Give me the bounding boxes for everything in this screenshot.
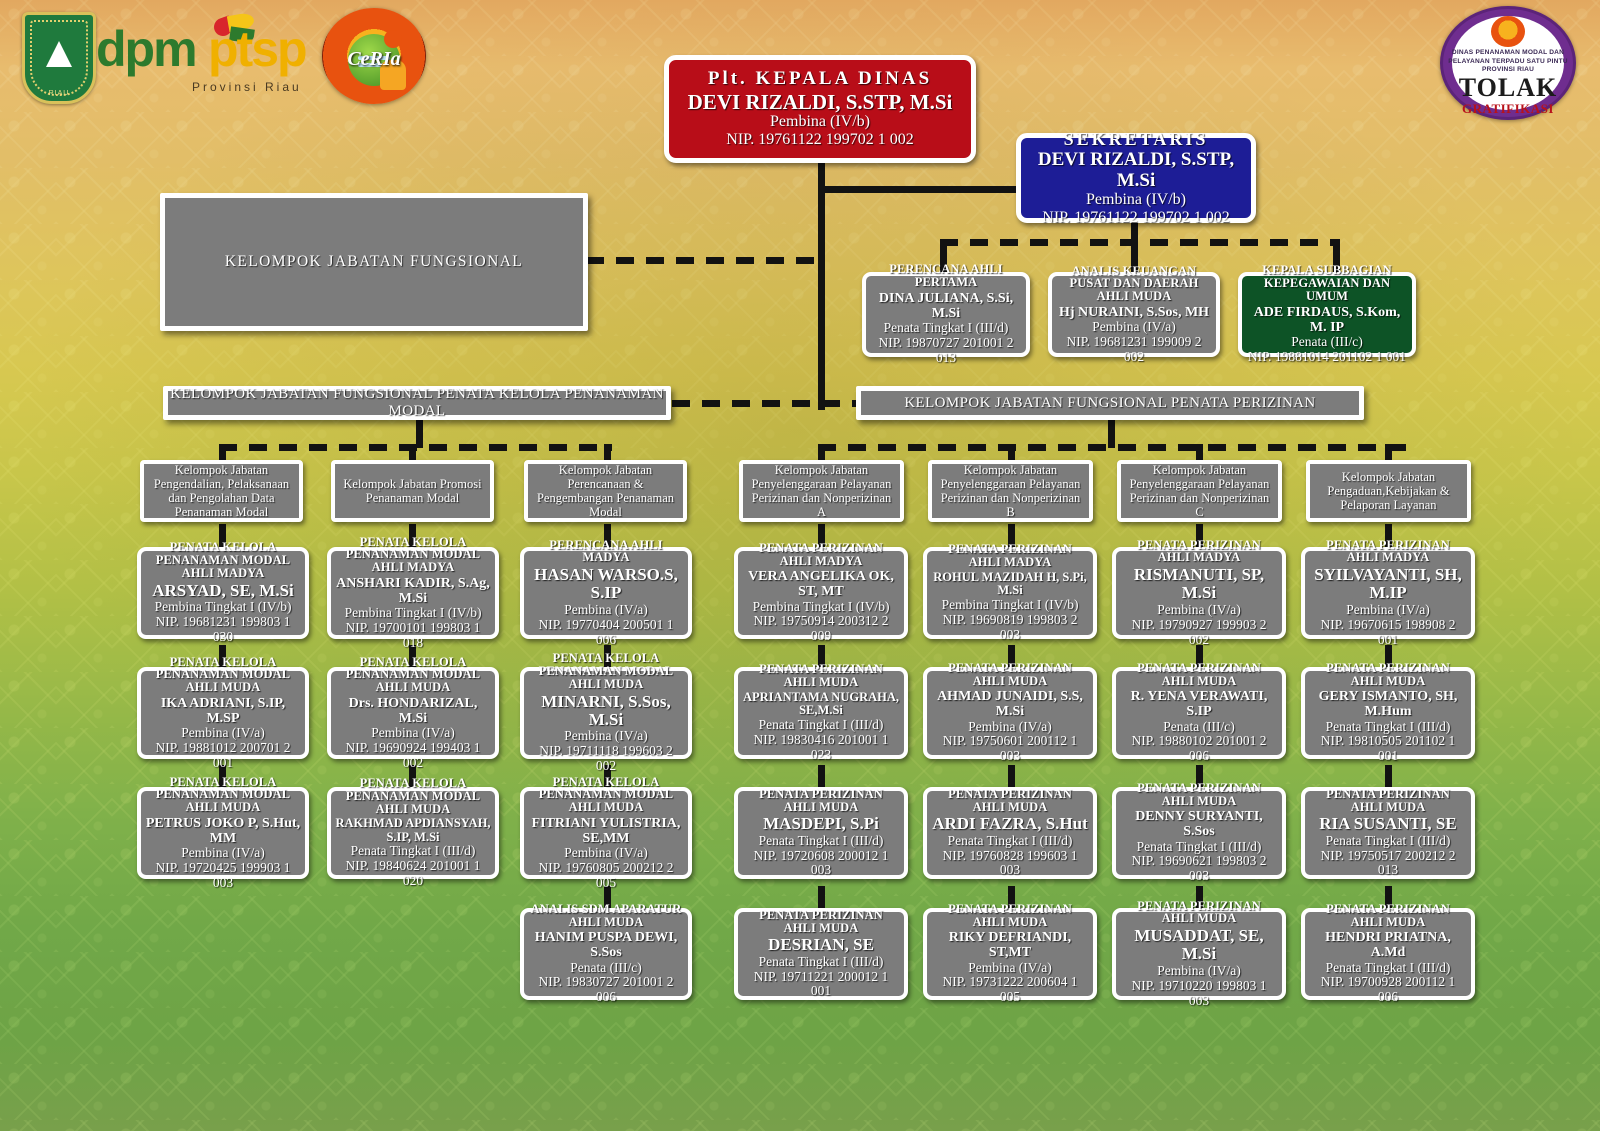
node-perencana-ahli-pertama[interactable]: PERENCANA AHLI PERTAMA DINA JULIANA, S.S… [862,272,1030,357]
connector-head-to-secretary [818,186,1018,193]
node-title: PENATA KELOLA PENANAMAN MODAL AHLI MUDA [528,776,684,814]
member-rakhmad-apdiansyah[interactable]: PENATA KELOLA PENANAMAN MODAL AHLI MUDA … [327,787,499,879]
connector-branch-bus [672,400,868,407]
stamp-main-text: TOLAK [1459,75,1557,101]
node-name: VERA ANGELIKA OK, ST, MT [742,569,900,599]
member-vera-angelika[interactable]: PENATA PERIZINAN AHLI MADYA VERA ANGELIK… [734,547,908,639]
member-hasan-warso[interactable]: PERENCANA AHLI MADYA HASAN WARSO.S, S.IP… [520,547,692,639]
node-name: ADE FIRDAUS, S.Kom, M. IP [1246,305,1408,335]
group-pengendalian-pelaksanaan[interactable]: Kelompok Jabatan Pengendalian, Pelaksana… [140,460,303,522]
node-name: HASAN WARSO.S, S.IP [528,566,684,603]
member-syilvayanti[interactable]: PENATA PERIZINAN AHLI MADYA SYILVAYANTI,… [1301,547,1475,639]
node-nip: NIP. 19690819 199803 2 003 [931,613,1089,643]
node-name: MINARNI, S.Sos, M.Si [528,693,684,730]
node-name: PETRUS JOKO P, S.Hut, MM [145,816,301,846]
node-title: PENATA KELOLA PENANAMAN MODAL AHLI MUDA [145,656,301,694]
node-rank: Pembina (IV/a) [564,846,648,861]
node-nip: NIP. 19750517 200212 2 013 [1309,849,1467,879]
stub-r4-r3 [1385,765,1392,789]
member-fitriani-yulistria[interactable]: PENATA KELOLA PENANAMAN MODAL AHLI MUDA … [520,787,692,879]
node-nip: NIP. 19770404 200501 1 006 [528,618,684,648]
group-label: Kelompok Jabatan Pengendalian, Pelaksana… [149,463,294,520]
member-denny-suryanti[interactable]: PENATA PERIZINAN AHLI MUDA DENNY SURYANT… [1112,787,1286,879]
member-gery-ismanto[interactable]: PENATA PERIZINAN AHLI MUDA GERY ISMANTO,… [1301,667,1475,759]
node-nip: NIP. 19870727 201001 2 013 [870,336,1022,366]
node-rank: Pembina Tingkat I (IV/b) [942,598,1079,613]
node-nip: NIP. 19810505 201102 1 001 [1309,734,1467,764]
group-label: Kelompok Jabatan Penyelenggaraan Pelayan… [1126,463,1273,520]
node-rank: Penata Tingkat I (III/d) [759,718,884,733]
node-rank: Pembina (IV/a) [181,726,265,741]
node-name: SYILVAYANTI, SH, M.IP [1309,566,1467,603]
node-title: PERENCANA AHLI PERTAMA [870,263,1022,289]
node-title: PENATA PERIZINAN AHLI MADYA [1309,539,1467,565]
node-rank: Penata (III/c) [570,961,642,976]
member-rismanuti[interactable]: PENATA PERIZINAN AHLI MADYA RISMANUTI, S… [1112,547,1286,639]
node-rank: Penata Tingkat I (III/d) [948,834,1073,849]
node-nip: NIP. 19790927 199903 2 002 [1120,618,1278,648]
node-nip: NIP. 19731222 200604 1 005 [931,975,1089,1005]
node-title: PENATA PERIZINAN AHLI MUDA [931,662,1089,688]
node-title: PENATA PERIZINAN AHLI MUDA [1309,662,1467,688]
node-name: APRIANTAMA NUGRAHA, SE,M.Si [742,691,900,718]
node-title: PENATA PERIZINAN AHLI MUDA [931,788,1089,814]
node-title: PENATA PERIZINAN AHLI MUDA [1120,662,1278,688]
member-ika-adriani[interactable]: PENATA KELOLA PENANAMAN MODAL AHLI MUDA … [137,667,309,759]
group-pelayanan-nonperizinan-b[interactable]: Kelompok Jabatan Penyelenggaraan Pelayan… [928,460,1093,522]
banner-label: KELOMPOK JABATAN FUNGSIONAL PENATA KELOL… [168,386,666,420]
node-nip: NIP. 19761122 199702 1 002 [1042,209,1229,227]
member-riky-defriandi[interactable]: PENATA PERIZINAN AHLI MUDA RIKY DEFRIAND… [923,908,1097,1000]
node-title: PENATA PERIZINAN AHLI MADYA [742,542,900,568]
node-title: ANALIS KEUANGAN PUSAT DAN DAERAH AHLI MU… [1056,265,1212,303]
banner-label: KELOMPOK JABATAN FUNGSIONAL PENATA PERIZ… [904,395,1315,412]
stub-r2-r3 [1008,765,1015,789]
ptsp-text: ptsp [208,24,306,74]
node-name: RIKY DEFRIANDI, ST,MT [931,930,1089,960]
node-nip: NIP. 19690621 199803 2 003 [1120,854,1278,884]
group-label: Kelompok Jabatan Penyelenggaraan Pelayan… [748,463,895,520]
group-pelayanan-nonperizinan-a[interactable]: Kelompok Jabatan Penyelenggaraan Pelayan… [739,460,904,522]
node-nip: NIP. 19700101 199803 1 018 [335,621,491,651]
node-title: PENATA KELOLA PENANAMAN MODAL AHLI MUDA [528,652,684,690]
node-name: Drs. HONDARIZAL, M.Si [335,696,491,726]
node-name: HENDRI PRIATNA, A.Md [1309,930,1467,960]
node-rank: Pembina (IV/a) [968,961,1052,976]
node-title: PENATA PERIZINAN AHLI MUDA [1120,900,1278,926]
node-name: DINA JULIANA, S.Si, M.Si [870,291,1022,321]
node-title: PENATA PERIZINAN AHLI MADYA [1120,539,1278,565]
node-rank: Penata Tingkat I (III/d) [1326,834,1451,849]
node-nip: NIP. 19840624 201001 1 020 [335,859,491,889]
node-name: Hj NURAINI, S.Sos, MH [1059,305,1209,320]
node-title: PERENCANA AHLI MADYA [528,539,684,565]
member-desrian[interactable]: PENATA PERIZINAN AHLI MUDA DESRIAN, SE P… [734,908,908,1000]
group-promosi-penanaman-modal[interactable]: Kelompok Jabatan Promosi Penanaman Modal [331,460,494,522]
node-rank: Penata Tingkat I (III/d) [759,834,884,849]
member-minarni[interactable]: PENATA KELOLA PENANAMAN MODAL AHLI MUDA … [520,667,692,759]
node-nip: NIP. 19720608 200012 1 003 [742,849,900,879]
node-name: FITRIANI YULISTRIA, SE,MM [528,816,684,846]
node-rank: Pembina (IV/a) [1092,320,1176,335]
node-rank: Penata Tingkat I (III/d) [759,955,884,970]
node-kepala-dinas[interactable]: Plt. KEPALA DINAS DEVI RIZALDI, S.STP, M… [664,55,976,163]
member-masdepi[interactable]: PENATA PERIZINAN AHLI MUDA MASDEPI, S.Pi… [734,787,908,879]
node-title: PENATA PERIZINAN AHLI MUDA [742,909,900,935]
node-nip: NIP. 19690924 199403 1 002 [335,741,491,771]
node-name: GERY ISMANTO, SH, M.Hum [1309,689,1467,719]
node-rank: Pembina (IV/a) [371,726,455,741]
connector-right-branch-bus [818,444,1418,451]
stamp-sub-text: GRATIFIKASI [1462,101,1554,117]
node-name: RAKHMAD APDIANSYAH, S.IP, M.Si [335,817,491,844]
node-name: RISMANUTI, SP, M.Si [1120,566,1278,603]
node-title: PENATA KELOLA PENANAMAN MODAL AHLI MADYA [145,541,301,579]
group-label: Kelompok Jabatan Penyelenggaraan Pelayan… [937,463,1084,520]
tolak-gratifikasi-stamp: DINAS PENANAMAN MODAL DAN PELAYANAN TERP… [1440,6,1576,120]
node-nip: NIP. 19710220 199803 1 003 [1120,979,1278,1009]
ceria-label: CeRIa [322,48,426,71]
node-rank: Pembina (IV/a) [968,720,1052,735]
node-name: ARDI FAZRA, S.Hut [932,815,1088,833]
node-rank: Pembina (IV/b) [1086,191,1186,209]
node-nip: NIP. 19711221 200012 1 001 [742,970,900,1000]
member-apriantama-nugraha[interactable]: PENATA PERIZINAN AHLI MUDA APRIANTAMA NU… [734,667,908,759]
member-yena-verawati[interactable]: PENATA PERIZINAN AHLI MUDA R. YENA VERAW… [1112,667,1286,759]
node-rank: Pembina (IV/a) [1346,603,1430,618]
member-hanim-puspa-dewi[interactable]: ANALIS SDM APARATUR AHLI MUDA HANIM PUSP… [520,908,692,1000]
node-nip: NIP. 19711118 199603 2 002 [528,744,684,774]
node-title: PENATA KELOLA PENANAMAN MODAL AHLI MADYA [335,536,491,574]
member-musaddat[interactable]: PENATA PERIZINAN AHLI MUDA MUSADDAT, SE,… [1112,908,1286,1000]
node-rank: Pembina Tingkat I (IV/b) [345,606,482,621]
node-title: PENATA KELOLA PENANAMAN MODAL AHLI MUDA [335,777,491,815]
stamp-emblem-icon [1491,16,1525,47]
node-nip: NIP. 19720425 199903 1 003 [145,861,301,891]
connector-secretariat-bus [940,239,1340,246]
node-title: PENATA KELOLA PENANAMAN MODAL AHLI MUDA [145,776,301,814]
node-name: MASDEPI, S.Pi [763,815,879,833]
node-name: DEVI RIZALDI, S.STP, M.Si [688,91,953,114]
node-nip: NIP. 19760805 200212 2 005 [528,861,684,891]
node-rank: Pembina Tingkat I (IV/b) [753,600,890,615]
node-analis-keuangan[interactable]: ANALIS KEUANGAN PUSAT DAN DAERAH AHLI MU… [1048,272,1220,357]
node-title: Plt. KEPALA DINAS [708,69,932,88]
node-nip: NIP. 19880102 201001 2 006 [1120,734,1278,764]
node-rank: Pembina Tingkat I (IV/b) [155,600,292,615]
node-name: ARSYAD, SE, M.Si [152,582,294,600]
member-anshari-kadir[interactable]: PENATA KELOLA PENANAMAN MODAL AHLI MADYA… [327,547,499,639]
node-name: DEVI RIZALDI, S.STP, M.Si [1025,150,1247,191]
node-title: PENATA PERIZINAN AHLI MADYA [931,543,1089,569]
node-nip: NIP. 19750601 200112 1 003 [931,734,1089,764]
node-rank: Penata (III/c) [1291,335,1363,350]
node-nip: NIP. 19681231 199009 2 002 [1056,335,1212,365]
node-sekretaris[interactable]: SEKRETARIS DEVI RIZALDI, S.STP, M.Si Pem… [1016,133,1256,223]
node-nip: NIP. 19760828 199603 1 003 [931,849,1089,879]
node-name: DENNY SURYANTI, S.Sos [1120,809,1278,839]
member-hondarizal[interactable]: PENATA KELOLA PENANAMAN MODAL AHLI MUDA … [327,667,499,759]
node-rank: Pembina (IV/a) [564,603,648,618]
node-title: PENATA PERIZINAN AHLI MUDA [742,663,900,689]
node-name: ANSHARI KADIR, S.Ag, M.Si [335,576,491,606]
node-nip: NIP. 19700928 200112 1 006 [1309,975,1467,1005]
group-perencanaan-pengembangan[interactable]: Kelompok Jabatan Perencanaan & Pengemban… [524,460,687,522]
node-rank: Penata Tingkat I (III/d) [351,844,476,859]
node-title: PENATA PERIZINAN AHLI MUDA [1309,903,1467,929]
node-rank: Penata Tingkat I (III/d) [1326,961,1451,976]
node-title: PENATA PERIZINAN AHLI MUDA [742,788,900,814]
node-kepala-subbagian-kepegawaian[interactable]: KEPALA SUBBAGIAN KEPEGAWAIAN DAN UMUM AD… [1238,272,1416,357]
node-rank: Pembina (IV/a) [1157,603,1241,618]
riau-provincial-crest-icon: RIAU [22,12,96,104]
dpm-text: dpm [96,24,196,74]
node-name: R. YENA VERAWATI, S.IP [1120,689,1278,719]
banner-kelompok-jabatan-fungsional[interactable]: KELOMPOK JABATAN FUNGSIONAL [160,193,588,331]
member-petrus-joko[interactable]: PENATA KELOLA PENANAMAN MODAL AHLI MUDA … [137,787,309,879]
node-name: MUSADDAT, SE, M.Si [1120,927,1278,964]
org-chart-canvas: RIAU dpm ptsp Provinsi Riau CeRIa DINAS … [0,0,1600,1131]
node-nip: NIP. 19750914 200312 2 009 [742,614,900,644]
node-rank: Pembina (IV/a) [1157,964,1241,979]
member-ahmad-junaidi[interactable]: PENATA PERIZINAN AHLI MUDA AHMAD JUNAIDI… [923,667,1097,759]
node-rank: Pembina (IV/a) [181,846,265,861]
stub-r1-r4 [818,886,825,910]
member-ria-susanti[interactable]: PENATA PERIZINAN AHLI MUDA RIA SUSANTI, … [1301,787,1475,879]
node-nip: NIP. 19830727 201001 2 006 [528,975,684,1005]
province-subtitle: Provinsi Riau [192,80,302,94]
dpmptsp-wordmark-logo: dpm ptsp Provinsi Riau [96,22,322,94]
group-label: Kelompok Jabatan Promosi Penanaman Modal [340,477,485,506]
member-rohul-mazidah[interactable]: PENATA PERIZINAN AHLI MADYA ROHUL MAZIDA… [923,547,1097,639]
node-rank: Penata Tingkat I (III/d) [1326,720,1451,735]
riau-crest-label: RIAU [25,90,93,97]
node-nip: NIP. 19881012 200701 2 001 [145,741,301,771]
node-name: DESRIAN, SE [768,936,874,954]
stamp-header-text: DINAS PENANAMAN MODAL DAN PELAYANAN TERP… [1443,49,1573,74]
node-nip: NIP. 19881014 201102 1 001 [1248,350,1406,365]
node-nip: NIP. 19681231 199803 1 030 [145,615,301,645]
node-name: IKA ADRIANI, S.IP, M.SP [145,696,301,726]
node-nip: NIP. 19670615 198908 2 001 [1309,618,1467,648]
node-title: ANALIS SDM APARATUR AHLI MUDA [528,903,684,929]
node-rank: Penata (III/c) [1163,720,1235,735]
stub-r1-r3 [818,765,825,789]
member-ardi-fazra[interactable]: PENATA PERIZINAN AHLI MUDA ARDI FAZRA, S… [923,787,1097,879]
node-name: AHMAD JUNAIDI, S.S, M.Si [931,689,1089,719]
node-rank: Pembina (IV/a) [564,729,648,744]
node-title: SEKRETARIS [1064,130,1209,148]
group-label: Kelompok Jabatan Perencanaan & Pengemban… [533,463,678,520]
banner-penata-perizinan[interactable]: KELOMPOK JABATAN FUNGSIONAL PENATA PERIZ… [856,386,1364,420]
node-rank: Penata Tingkat I (III/d) [1137,840,1262,855]
node-rank: Pembina (IV/b) [770,113,870,131]
node-name: RIA SUSANTI, SE [1319,815,1456,833]
banner-penata-kelola-penanaman-modal[interactable]: KELOMPOK JABATAN FUNGSIONAL PENATA KELOL… [163,386,671,420]
node-name: ROHUL MAZIDAH H, S.Pi, M.Si [931,571,1089,598]
node-nip: NIP. 19830416 201001 1 023 [742,733,900,763]
node-title: KEPALA SUBBAGIAN KEPEGAWAIAN DAN UMUM [1246,264,1408,302]
node-title: PENATA PERIZINAN AHLI MUDA [931,903,1089,929]
banner-label: KELOMPOK JABATAN FUNGSIONAL [225,253,523,271]
node-name: HANIM PUSPA DEWI, S.Sos [528,930,684,960]
node-title: PENATA PERIZINAN AHLI MUDA [1309,788,1467,814]
group-label: Kelompok Jabatan Pengaduan,Kebijakan & P… [1315,470,1462,513]
node-nip: NIP. 19761122 199702 1 002 [726,131,913,149]
node-title: PENATA KELOLA PENANAMAN MODAL AHLI MUDA [335,656,491,694]
connector-functional-group-dashed [586,257,822,264]
node-rank: Penata Tingkat I (III/d) [884,321,1009,336]
group-pelayanan-nonperizinan-c[interactable]: Kelompok Jabatan Penyelenggaraan Pelayan… [1117,460,1282,522]
member-arsyad[interactable]: PENATA KELOLA PENANAMAN MODAL AHLI MADYA… [137,547,309,639]
group-pengaduan-kebijakan-pelaporan[interactable]: Kelompok Jabatan Pengaduan,Kebijakan & P… [1306,460,1471,522]
member-hendri-priatna[interactable]: PENATA PERIZINAN AHLI MUDA HENDRI PRIATN… [1301,908,1475,1000]
connector-head-spine [818,186,825,410]
ceria-emblem-icon: CeRIa [322,8,426,104]
node-title: PENATA PERIZINAN AHLI MUDA [1120,782,1278,808]
